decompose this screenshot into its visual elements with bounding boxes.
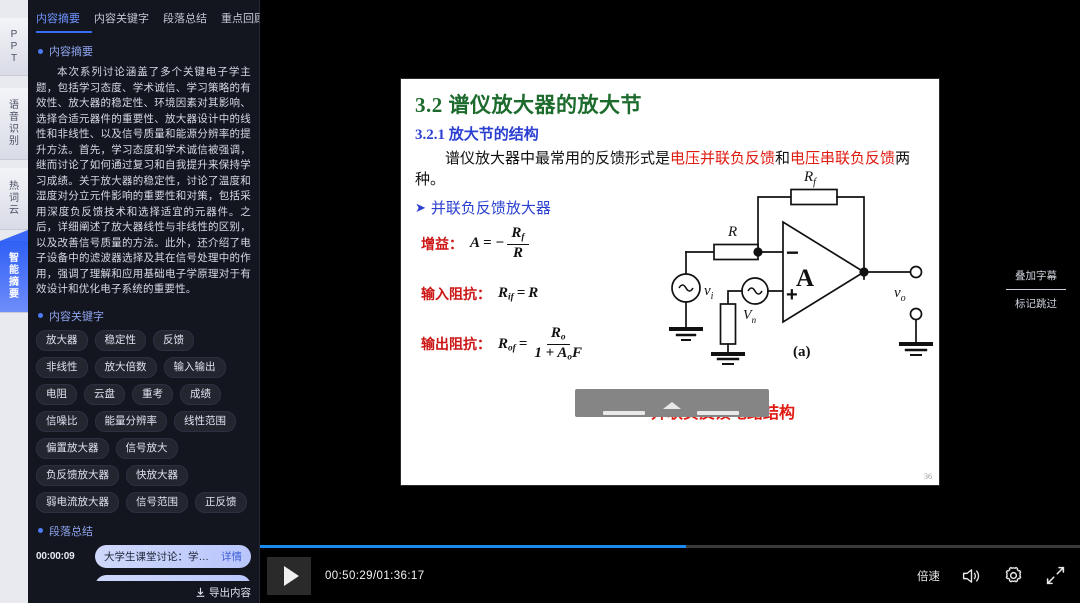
- tab-content-summary[interactable]: 内容摘要: [34, 8, 82, 33]
- segment-list: 00:00:09 大学生课堂讨论：学习... 详情 00:08:39 讨论放大器…: [36, 545, 251, 582]
- formula-input-impedance-expression: Rif = R: [498, 285, 538, 302]
- keyword-tag[interactable]: 成绩: [180, 384, 221, 405]
- formula-output-impedance-expression: Rof = Ro 1 + AoF: [498, 326, 586, 363]
- keyword-tag[interactable]: 信噪比: [36, 411, 88, 432]
- formula-rof-num-sub: o: [561, 332, 566, 342]
- formula-gain: 增益： A = − Rf R: [421, 226, 656, 262]
- keyword-tag[interactable]: 稳定性: [95, 330, 147, 351]
- keyword-tag[interactable]: 快放大器: [126, 465, 188, 486]
- rail-tab-ppt-char-1: P: [11, 41, 18, 53]
- slide-bullet-label: 并联负反馈放大器: [431, 197, 551, 218]
- keyword-tag-list: 放大器 稳定性 反馈 非线性 放大倍数 输入输出 电阻 云盘 重考 成绩 信噪比…: [36, 330, 251, 513]
- smart-summary-panel: 内容摘要 内容关键字 段落总结 重点回顾 内容摘要 本次系列讨论涵盖了多个关键电…: [28, 0, 260, 603]
- player-control-bar: 00:50:29/01:36:17 倍速: [260, 548, 1080, 603]
- slide-title: 3.2 谱仪放大器的放大节: [415, 89, 925, 119]
- keyword-tag[interactable]: 放大器: [36, 330, 88, 351]
- formula-output-impedance-label: 输出阻抗：: [421, 334, 491, 354]
- play-button[interactable]: [267, 557, 311, 595]
- circuit-label-vi: vi: [704, 283, 714, 302]
- slide-floating-toolbar[interactable]: [575, 389, 769, 417]
- section-title-keywords: 内容关键字: [49, 308, 104, 324]
- formula-rof-den-base: 1 + A: [534, 345, 567, 361]
- segment-detail-link[interactable]: 详情: [221, 579, 242, 582]
- formula-output-impedance: 输出阻抗： Rof = Ro 1 + AoF: [421, 326, 656, 363]
- bullet-dot-icon: [38, 313, 43, 318]
- formula-gain-fraction: Rf R: [507, 226, 528, 262]
- settings-button[interactable]: [1002, 565, 1024, 587]
- volume-icon: [961, 567, 982, 585]
- formula-gain-label: 增益：: [421, 234, 463, 254]
- circuit-label-inverting-input: −: [786, 240, 799, 265]
- section-title-segments: 段落总结: [49, 523, 93, 539]
- fullscreen-icon: [1045, 565, 1066, 586]
- section-title-summary: 内容摘要: [49, 43, 93, 59]
- segment-pill[interactable]: 讨论放大器的稳定性与... 详情: [95, 575, 251, 582]
- formula-list: 增益： A = − Rf R 输入阻抗： Ri: [421, 226, 656, 363]
- circuit-label-vn: Vn: [743, 308, 757, 325]
- rail-tab-summary-char-0: 智: [9, 253, 19, 265]
- formula-input-impedance-label: 输入阻抗：: [421, 284, 491, 304]
- rail-tab-speech-char-2: 识: [9, 124, 19, 136]
- segment-pill[interactable]: 大学生课堂讨论：学习... 详情: [95, 545, 251, 568]
- formula-rif-op: =: [517, 285, 526, 302]
- rail-tab-ppt[interactable]: P P T: [0, 18, 28, 76]
- playback-speed-button[interactable]: 倍速: [917, 568, 940, 584]
- formula-rof-lhs: Rof: [498, 336, 516, 353]
- toolbar-segment-right[interactable]: [697, 411, 739, 415]
- fullscreen-button[interactable]: [1044, 565, 1066, 587]
- opamp-circuit-diagram: Rf R A − + vi Vn vo (a): [658, 164, 940, 379]
- keyword-tag[interactable]: 电阻: [36, 384, 77, 405]
- rail-tab-hot-word-cloud[interactable]: 热 词 云: [0, 168, 28, 230]
- rail-tab-speech-char-3: 别: [9, 136, 19, 148]
- segment-timestamp: 00:00:09: [36, 551, 88, 562]
- formula-rof-numerator: Ro: [547, 326, 570, 345]
- rail-tab-smart-summary[interactable]: 智 能 摘 要: [0, 241, 28, 313]
- section-header-summary: 内容摘要: [38, 43, 251, 59]
- formula-rof-den-tail: F: [572, 345, 582, 361]
- rail-tab-hotword-char-0: 热: [9, 181, 19, 193]
- slide-subtitle: 3.2.1 放大节的结构: [415, 123, 925, 144]
- segment-timestamp: 00:08:39: [36, 581, 88, 582]
- formula-rof-sub: of: [508, 343, 516, 353]
- keyword-tag[interactable]: 重考: [132, 384, 173, 405]
- circuit-label-rf: Rf: [803, 169, 817, 188]
- keyword-tag[interactable]: 非线性: [36, 357, 88, 378]
- keyword-tag[interactable]: 能量分辨率: [95, 411, 168, 432]
- toolbar-segment-left[interactable]: [603, 411, 645, 415]
- rail-tab-speech-recognition[interactable]: 语 音 识 别: [0, 88, 28, 160]
- download-icon: [195, 587, 206, 598]
- keyword-tag[interactable]: 正反馈: [195, 492, 247, 513]
- rail-tab-hotword-char-2: 云: [9, 205, 19, 217]
- rail-tab-ppt-char-0: P: [11, 29, 18, 41]
- rail-tab-summary-char-3: 要: [9, 289, 19, 301]
- tab-paragraph-summary[interactable]: 段落总结: [161, 8, 209, 33]
- keyword-tag[interactable]: 输入输出: [164, 357, 226, 378]
- circuit-label-noninverting-input: +: [786, 284, 798, 306]
- formula-rif-sub: if: [508, 292, 514, 302]
- junction-dot: [859, 267, 868, 276]
- keyword-tag[interactable]: 信号范围: [126, 492, 188, 513]
- circuit-label-r: R: [727, 224, 737, 240]
- keyword-tag[interactable]: 云盘: [84, 384, 125, 405]
- formula-input-impedance: 输入阻抗： Rif = R: [421, 284, 656, 304]
- panel-scroll-body[interactable]: 内容摘要 本次系列讨论涵盖了多个关键电子学主题，包括学习态度、学术诚信、学习策略…: [28, 33, 259, 581]
- overlay-subtitle-button[interactable]: 叠加字幕: [1006, 268, 1066, 283]
- mark-skip-button[interactable]: 标记跳过: [1006, 296, 1066, 311]
- rail-tab-summary-char-1: 能: [9, 265, 19, 277]
- formula-rof-num-base: R: [551, 325, 561, 341]
- formula-gain-num-sub: f: [521, 232, 524, 242]
- segment-title: 讨论放大器的稳定性与...: [104, 579, 215, 582]
- rail-tab-ppt-char-2: T: [11, 53, 17, 65]
- app-root: P P T 语 音 识 别 热 词 云 智 能 摘 要 内容摘要 内容关键字 段…: [0, 0, 1080, 603]
- export-content-label: 导出内容: [209, 585, 251, 600]
- vertical-tab-rail: P P T 语 音 识 别 热 词 云 智 能 摘 要: [0, 0, 28, 603]
- side-label-divider: [1006, 289, 1066, 290]
- formula-rof-fraction: Ro 1 + AoF: [530, 326, 586, 363]
- rail-tab-speech-char-1: 音: [9, 112, 19, 124]
- keyword-tag[interactable]: 线性范围: [174, 411, 236, 432]
- summary-paragraph: 本次系列讨论涵盖了多个关键电子学主题，包括学习态度、学术诚信、学习策略的有效性、…: [36, 65, 251, 298]
- bullet-dot-icon: [38, 49, 43, 54]
- rail-tab-hotword-char-1: 词: [9, 193, 19, 205]
- tab-content-keywords[interactable]: 内容关键字: [92, 8, 151, 33]
- player-right-controls: 倍速: [917, 565, 1066, 587]
- collapse-up-icon[interactable]: [663, 402, 681, 409]
- video-stage[interactable]: 3.2 谱仪放大器的放大节 3.2.1 放大节的结构 谱仪放大器中最常用的反馈形…: [260, 0, 1080, 603]
- formula-rif-lhs: Rif: [498, 285, 514, 302]
- formula-rif-base: R: [498, 285, 508, 301]
- rail-tab-speech-char-0: 语: [9, 100, 19, 112]
- segment-row[interactable]: 00:08:39 讨论放大器的稳定性与... 详情: [36, 575, 251, 582]
- bullet-dot-icon: [38, 528, 43, 533]
- formula-rof-base: R: [498, 336, 508, 352]
- side-label-group: 叠加字幕 标记跳过: [1006, 268, 1066, 311]
- rail-tab-summary-char-2: 摘: [9, 277, 19, 289]
- formula-rof-op: =: [519, 336, 528, 353]
- segment-title: 大学生课堂讨论：学习...: [104, 549, 215, 564]
- keyword-tag[interactable]: 负反馈放大器: [36, 465, 119, 486]
- circuit-label-vo: vo: [894, 285, 906, 304]
- formula-rof-denominator: 1 + AoF: [530, 345, 586, 363]
- formula-gain-lhs: A: [470, 235, 480, 252]
- keyword-tag[interactable]: 反馈: [153, 330, 194, 351]
- segment-row[interactable]: 00:00:09 大学生课堂讨论：学习... 详情: [36, 545, 251, 568]
- keyword-tag[interactable]: 放大倍数: [95, 357, 157, 378]
- presentation-slide: 3.2 谱仪放大器的放大节 3.2.1 放大节的结构 谱仪放大器中最常用的反馈形…: [400, 78, 940, 486]
- formula-gain-op: = −: [483, 235, 504, 252]
- play-icon: [284, 566, 299, 586]
- formula-gain-num-base: R: [511, 225, 521, 241]
- slide-page-number: 36: [924, 472, 932, 481]
- junction-dot: [753, 247, 762, 256]
- section-header-keywords: 内容关键字: [38, 308, 251, 324]
- keyword-tag[interactable]: 信号放大: [116, 438, 178, 459]
- segment-detail-link[interactable]: 详情: [221, 549, 242, 564]
- circuit-label-amp: A: [796, 265, 814, 292]
- formula-gain-expression: A = − Rf R: [470, 226, 529, 262]
- volume-button[interactable]: [960, 565, 982, 587]
- formula-gain-denominator: R: [509, 245, 527, 262]
- formula-rif-rhs: R: [528, 285, 538, 302]
- time-display: 00:50:29/01:36:17: [325, 570, 425, 582]
- section-header-segments: 段落总结: [38, 523, 251, 539]
- export-content-button[interactable]: 导出内容: [28, 581, 259, 603]
- panel-tab-bar: 内容摘要 内容关键字 段落总结 重点回顾: [28, 0, 259, 33]
- formula-gain-numerator: Rf: [507, 226, 528, 245]
- keyword-tag[interactable]: 弱电流放大器: [36, 492, 119, 513]
- arrow-bullet-icon: ➤: [415, 200, 426, 216]
- keyword-tag[interactable]: 偏置放大器: [36, 438, 109, 459]
- gear-icon: [1003, 565, 1024, 586]
- circuit-caption-a: (a): [793, 344, 811, 360]
- slide-paragraph-part-0: 谱仪放大器中最常用的反馈形式是: [445, 151, 670, 167]
